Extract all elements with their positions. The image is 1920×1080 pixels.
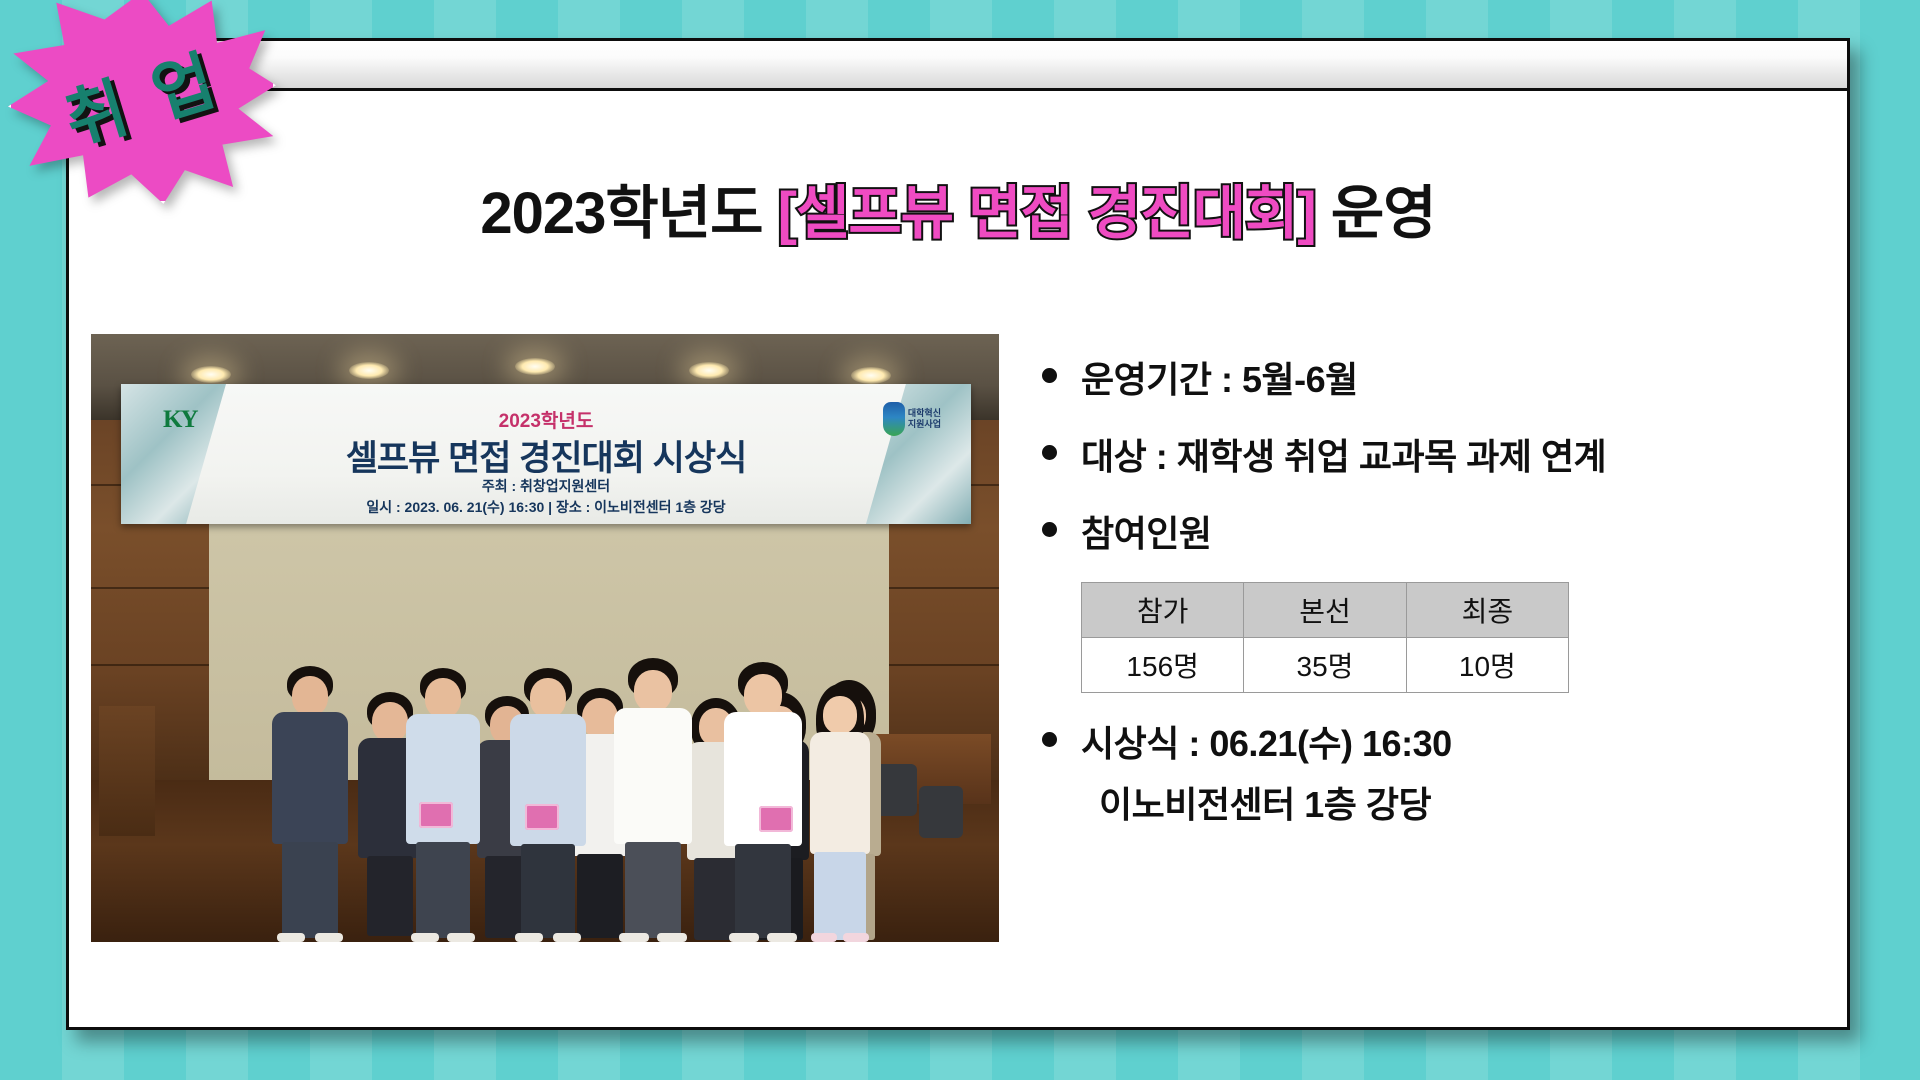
ceiling-light-1 — [191, 366, 231, 383]
ceiling-light-2 — [349, 362, 389, 379]
table-header-row: 참가 본선 최종 — [1082, 583, 1569, 638]
banner-main-title: 셀프뷰 면접 경진대회 시상식 — [121, 430, 971, 481]
person-front-2 — [407, 642, 479, 942]
table-row: 156명 35명 10명 — [1082, 638, 1569, 693]
title-suffix: 운영 — [1316, 181, 1436, 246]
slide-root: 2023학년도 [셀프뷰 면접 경진대회] 운영 KY — [0, 0, 1920, 1080]
title-highlight: [셀프뷰 면접 경진대회] — [778, 181, 1316, 246]
header-bar — [69, 41, 1847, 91]
banner-year: 2023학년도 — [121, 406, 971, 433]
bullet-target: 대상 : 재학생 취업 교과목 과제 연계 — [1029, 428, 1809, 480]
ceiling-light-4 — [689, 362, 729, 379]
event-photo: KY 대학혁신지원사업 2023학년도 셀프뷰 면접 경진대회 시상식 주최 :… — [91, 334, 999, 942]
person-front-4 — [615, 636, 691, 942]
award-list: 시상식 : 06.21(수) 16:30 — [1029, 715, 1809, 767]
employment-badge: 취 업 — [8, 0, 276, 204]
banner-host: 주최 : 취창업지원센터 — [121, 476, 971, 496]
person-front-3 — [511, 640, 585, 942]
page-title: 2023학년도 [셀프뷰 면접 경진대회] 운영 — [69, 166, 1847, 250]
banner-when-where: 일시 : 2023. 06. 21(수) 16:30 | 장소 : 이노비전센터… — [121, 497, 971, 517]
photo-banner: KY 대학혁신지원사업 2023학년도 셀프뷰 면접 경진대회 시상식 주최 :… — [121, 384, 971, 524]
table-header-final-round: 본선 — [1244, 583, 1406, 638]
content-frame: 2023학년도 [셀프뷰 면접 경진대회] 운영 KY — [66, 38, 1850, 1030]
badge-label: 취 업 — [0, 0, 301, 239]
person-front-1 — [273, 642, 347, 942]
table-cell-final-round: 35명 — [1244, 638, 1406, 693]
ceiling-light-5 — [851, 367, 891, 384]
bullet-award: 시상식 : 06.21(수) 16:30 — [1029, 715, 1809, 767]
bullet-list: 운영기간 : 5월-6월 대상 : 재학생 취업 교과목 과제 연계 참여인원 — [1029, 351, 1809, 557]
bullet-period: 운영기간 : 5월-6월 — [1029, 351, 1809, 403]
award-venue: 이노비전센터 1층 강당 — [1099, 776, 1809, 828]
title-prefix: 2023학년도 — [480, 181, 777, 246]
table-cell-final: 10명 — [1406, 638, 1568, 693]
table-cell-apply: 156명 — [1082, 638, 1244, 693]
bullet-participants: 참여인원 — [1029, 505, 1809, 557]
photo-group — [91, 604, 999, 942]
table-header-final: 최종 — [1406, 583, 1568, 638]
person-front-5 — [725, 638, 801, 942]
details-panel: 운영기간 : 5월-6월 대상 : 재학생 취업 교과목 과제 연계 참여인원 … — [1029, 351, 1809, 828]
person-front-6 — [807, 650, 873, 942]
table-header-apply: 참가 — [1082, 583, 1244, 638]
participants-table: 참가 본선 최종 156명 35명 10명 — [1081, 582, 1569, 693]
ceiling-light-3 — [515, 358, 555, 375]
